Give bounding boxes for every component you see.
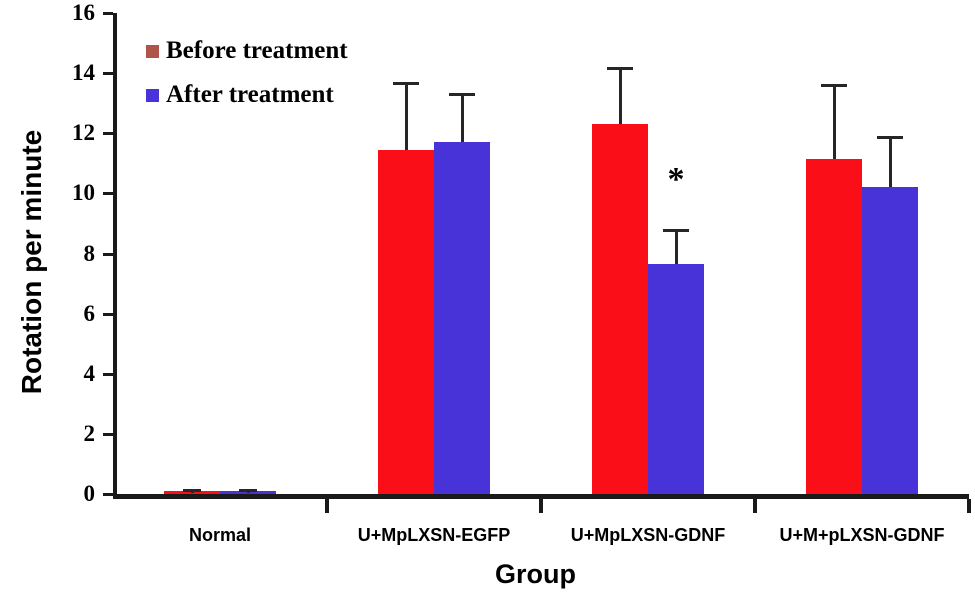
x-axis-title: Group bbox=[0, 559, 975, 590]
y-tick-label: 8 bbox=[49, 242, 95, 265]
y-tick bbox=[103, 72, 113, 75]
error-bar-cap-0-0 bbox=[183, 489, 201, 492]
y-axis-title: Rotation per minute bbox=[16, 102, 48, 422]
y-tick bbox=[103, 373, 113, 376]
x-tick bbox=[753, 499, 757, 513]
error-bar-cap-3-0 bbox=[821, 84, 847, 87]
x-tick-label-1: U+MpLXSN-EGFP bbox=[327, 525, 541, 546]
bar-1-1 bbox=[434, 142, 490, 494]
error-bar-stem-3-0 bbox=[833, 84, 836, 159]
y-tick-label: 12 bbox=[49, 121, 95, 144]
y-tick-label: 14 bbox=[49, 61, 95, 84]
chart-legend: Before treatmentAfter treatment bbox=[146, 34, 386, 122]
x-tick bbox=[967, 499, 971, 513]
y-tick-label: 4 bbox=[49, 362, 95, 385]
bar-3-1 bbox=[862, 187, 918, 494]
legend-label-1: After treatment bbox=[166, 81, 334, 109]
x-tick bbox=[539, 499, 543, 513]
y-tick bbox=[103, 192, 113, 195]
legend-swatch-0 bbox=[146, 45, 159, 58]
significance-marker: * bbox=[661, 163, 691, 197]
bar-chart-figure: Rotation per minute Group 0246810121416 … bbox=[0, 0, 975, 604]
legend-swatch-1 bbox=[146, 89, 159, 102]
y-tick bbox=[103, 253, 113, 256]
y-tick bbox=[103, 313, 113, 316]
legend-label-0: Before treatment bbox=[166, 37, 348, 65]
error-bar-stem-3-1 bbox=[889, 136, 892, 187]
bar-3-0 bbox=[806, 159, 862, 494]
bar-1-0 bbox=[378, 150, 434, 494]
y-tick-label: 16 bbox=[49, 1, 95, 24]
y-tick-label: 0 bbox=[49, 482, 95, 505]
y-tick-label: 10 bbox=[49, 181, 95, 204]
legend-item-0: Before treatment bbox=[146, 34, 386, 68]
y-axis-line bbox=[113, 13, 117, 494]
x-tick-label-0: Normal bbox=[113, 525, 327, 546]
error-bar-stem-1-0 bbox=[405, 82, 408, 150]
error-bar-stem-2-0 bbox=[619, 67, 622, 124]
error-bar-cap-3-1 bbox=[877, 136, 903, 139]
error-bar-cap-2-1 bbox=[663, 229, 689, 232]
x-tick-label-2: U+MpLXSN-GDNF bbox=[541, 525, 755, 546]
x-tick-label-3: U+M+pLXSN-GDNF bbox=[755, 525, 969, 546]
bar-2-1 bbox=[648, 264, 704, 494]
y-tick bbox=[103, 132, 113, 135]
y-tick-label: 6 bbox=[49, 302, 95, 325]
error-bar-stem-2-1 bbox=[675, 229, 678, 264]
error-bar-cap-2-0 bbox=[607, 67, 633, 70]
bar-2-0 bbox=[592, 124, 648, 494]
error-bar-cap-1-0 bbox=[393, 82, 419, 85]
y-tick bbox=[103, 12, 113, 15]
error-bar-cap-1-1 bbox=[449, 93, 475, 96]
x-tick bbox=[325, 499, 329, 513]
legend-item-1: After treatment bbox=[146, 78, 386, 112]
y-tick bbox=[103, 433, 113, 436]
error-bar-cap-0-1 bbox=[239, 489, 257, 492]
y-tick bbox=[103, 493, 113, 496]
y-tick-label: 2 bbox=[49, 422, 95, 445]
error-bar-stem-1-1 bbox=[461, 93, 464, 143]
